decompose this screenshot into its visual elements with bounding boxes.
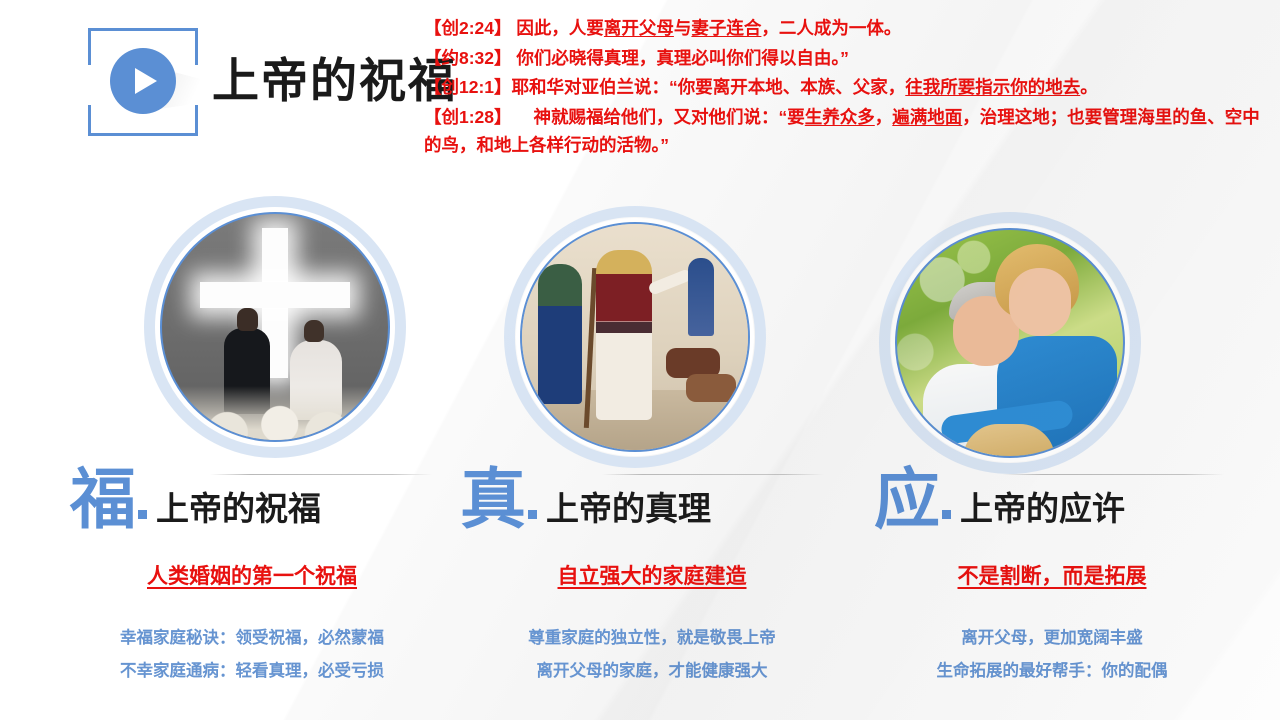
scripture-verse-4: 【创1:28】神就赐福给他们，又对他们说：“要生养众多，遍满地面，治理这地；也要… [424, 103, 1276, 160]
woman-face [1009, 268, 1071, 336]
wedding-couple-cross-photo [160, 212, 390, 442]
detail-line-3b: 生命拓展的最好帮手：你的配偶 [852, 655, 1252, 688]
circle-image-1 [160, 212, 390, 442]
bullet-dot-2 [528, 510, 537, 519]
column-heading-2: 真 上帝的真理 [452, 468, 852, 531]
detail-line-2a: 尊重家庭的独立性，就是敬畏上帝 [452, 622, 852, 655]
circle-image-2 [520, 222, 750, 452]
verse-ref-3: 【创12:1】 [424, 77, 512, 97]
cross-icon-horizontal [200, 282, 350, 308]
big-char-2: 真 [460, 468, 526, 531]
detail-line-3a: 离开父母，更加宽阔丰盛 [852, 622, 1252, 655]
sub-heading-1: 上帝的祝福 [156, 492, 321, 531]
play-button-logo [88, 28, 198, 136]
play-button-icon [110, 48, 176, 114]
verse-ref-2: 【约8:32】 [424, 48, 512, 68]
verse-ref-4: 【创1:28】 [424, 107, 512, 127]
slide-canvas: 上帝的祝福 【创2:24】 因此，人要离开父母与妻子连合，二人成为一体。 【约8… [0, 0, 1280, 720]
animal-2 [686, 374, 736, 402]
detail-lines-2: 尊重家庭的独立性，就是敬畏上帝 离开父母的家庭，才能健康强大 [452, 622, 852, 688]
big-char-3: 应 [874, 468, 940, 531]
circle-image-3 [895, 228, 1125, 458]
scripture-verse-2: 【约8:32】 你们必晓得真理，真理必叫你们得以自由。” [424, 44, 1276, 73]
big-char-1: 福 [70, 468, 136, 531]
verse-ref-1: 【创2:24】 [424, 18, 512, 38]
scripture-block: 【创2:24】 因此，人要离开父母与妻子连合，二人成为一体。 【约8:32】 你… [424, 14, 1276, 161]
abraham-figure [596, 250, 652, 420]
abraham-sash [596, 322, 652, 333]
highlight-text-2: 自立强大的家庭建造 [452, 560, 852, 590]
column-heading-3: 应 上帝的应许 [852, 468, 1252, 531]
bullet-dot-1 [138, 510, 147, 519]
detail-line-1a: 幸福家庭秘诀：领受祝福，必然蒙福 [52, 622, 452, 655]
abraham-journey-illustration [520, 222, 750, 452]
play-triangle-icon [135, 68, 157, 94]
detail-lines-3: 离开父母，更加宽阔丰盛 生命拓展的最好帮手：你的配偶 [852, 622, 1252, 688]
scripture-verse-3: 【创12:1】耶和华对亚伯兰说：“你要离开本地、本族、父家，往我所要指示你的地去… [424, 73, 1276, 102]
highlight-text-1: 人类婚姻的第一个祝福 [52, 560, 452, 590]
detail-lines-1: 幸福家庭秘诀：领受祝福，必然蒙福 不幸家庭通病：轻看真理，必受亏损 [52, 622, 452, 688]
page-title: 上帝的祝福 [212, 42, 457, 111]
slide-header: 上帝的祝福 【创2:24】 因此，人要离开父母与妻子连合，二人成为一体。 【约8… [0, 0, 1280, 180]
bullet-dot-3 [942, 510, 951, 519]
detail-line-2b: 离开父母的家庭，才能健康强大 [452, 655, 852, 688]
elderly-couple-photo [895, 228, 1125, 458]
robed-figure-left [538, 264, 582, 404]
robed-figure-right [688, 258, 714, 336]
highlight-text-3: 不是割断，而是拓展 [852, 560, 1252, 590]
scripture-verse-1: 【创2:24】 因此，人要离开父母与妻子连合，二人成为一体。 [424, 14, 1276, 43]
white-flowers [160, 386, 390, 442]
column-heading-1: 福 上帝的祝福 [52, 468, 452, 531]
sub-heading-2: 上帝的真理 [546, 492, 711, 531]
detail-line-1b: 不幸家庭通病：轻看真理，必受亏损 [52, 655, 452, 688]
sub-heading-3: 上帝的应许 [960, 492, 1125, 531]
